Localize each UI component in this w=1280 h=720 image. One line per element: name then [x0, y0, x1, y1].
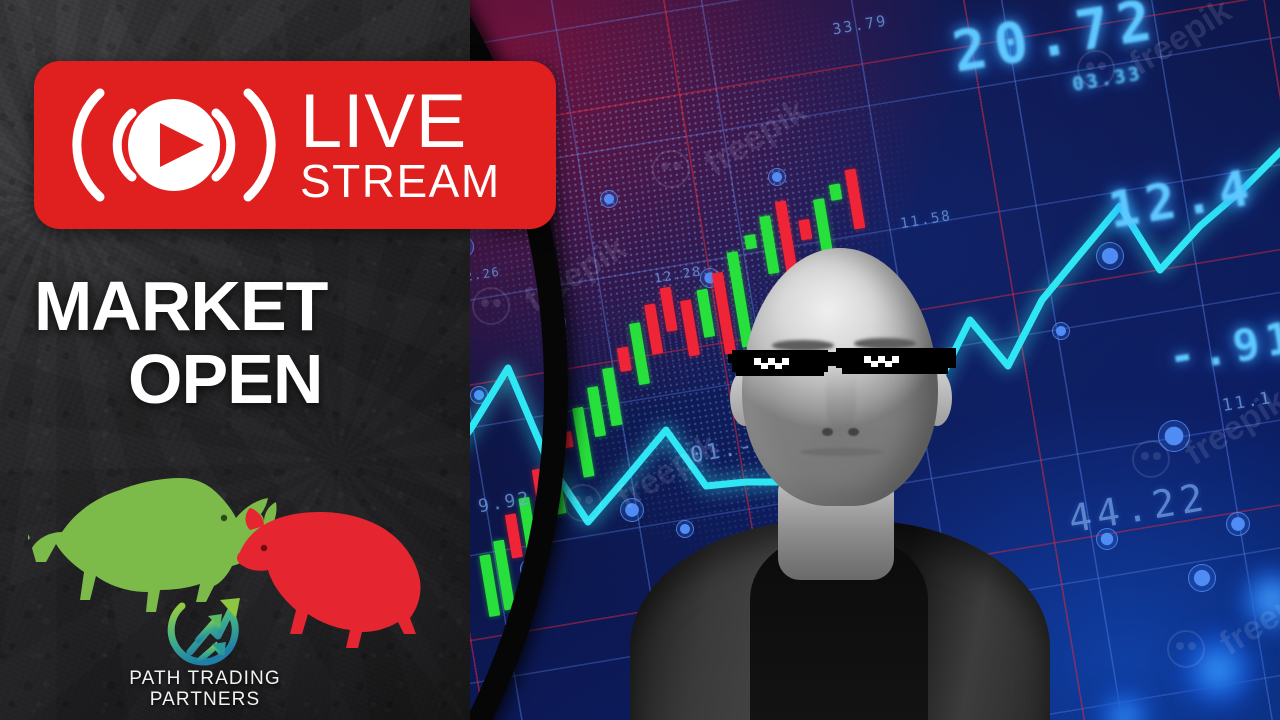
broadcast-play-icon — [48, 75, 300, 215]
nose — [826, 372, 856, 434]
headline-line-1: MARKET — [0, 272, 420, 341]
bear-icon — [237, 508, 421, 648]
bokeh-orb — [1180, 632, 1256, 708]
live-label: LIVE — [300, 88, 467, 156]
thumbnail-canvas: 20.7203.3333.7912.4-.9111.144.2201.-911.… — [0, 0, 1280, 720]
circular-growth-arrows-icon — [160, 586, 254, 678]
brand-line-2: PARTNERS — [40, 689, 370, 710]
brand-line-1: PATH TRADING — [40, 668, 370, 689]
stream-label: STREAM — [300, 161, 501, 202]
mouth — [800, 448, 884, 456]
chin-shading — [786, 426, 898, 498]
presenter-portrait — [600, 220, 1070, 720]
live-stream-text: LIVE STREAM — [300, 88, 501, 202]
pixel-sunglasses-icon — [728, 346, 956, 380]
brand-name: PATH TRADING PARTNERS — [40, 668, 370, 711]
candlestick-up — [829, 183, 842, 201]
live-stream-badge[interactable]: LIVE STREAM — [34, 61, 556, 229]
headline-line-2: OPEN — [0, 345, 420, 414]
page-title: MARKET OPEN — [0, 272, 420, 413]
